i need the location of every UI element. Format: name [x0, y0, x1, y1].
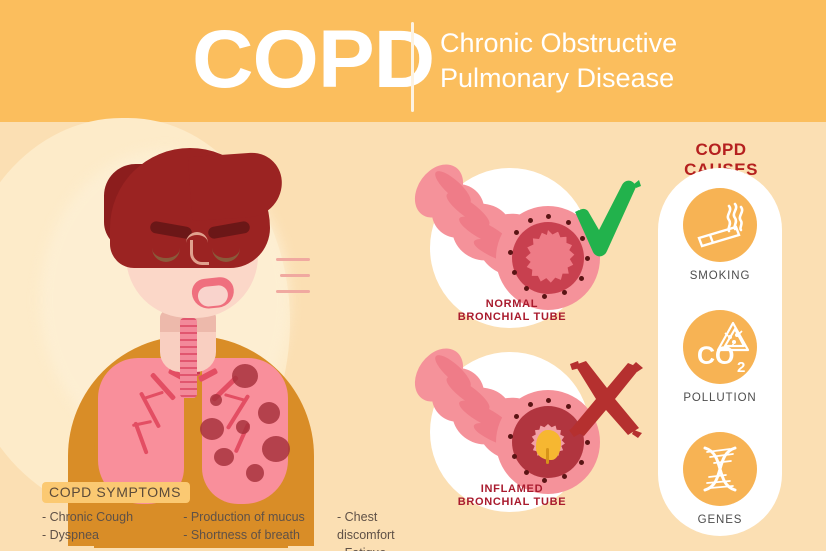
- cough-motion-line: [276, 258, 310, 261]
- page-title: COPD: [192, 12, 400, 107]
- cause-item-smoking[interactable]: SMOKING: [658, 188, 782, 282]
- cause-label: SMOKING: [658, 270, 782, 282]
- lung-damage-spot: [232, 364, 258, 388]
- symptoms-list: - Chronic Cough - Dyspnea - Production o…: [42, 508, 462, 551]
- symptom-item: - Shortness of breath: [183, 526, 311, 544]
- symptoms-column: - Chronic Cough - Dyspnea: [42, 508, 157, 551]
- tube-label: NORMAL BRONCHIAL TUBE: [412, 298, 612, 324]
- cigarette-icon: [683, 188, 757, 262]
- cause-label: POLLUTION: [658, 392, 782, 404]
- hair-fringe: [188, 151, 284, 221]
- symptoms-title: COPD SYMPTOMS: [42, 482, 190, 503]
- trachea: [180, 318, 197, 398]
- lung-damage-spot: [210, 394, 222, 406]
- header-subtitle-line2: Pulmonary Disease: [440, 61, 770, 96]
- causes-panel: SMOKING CO 2 POLLUTION: [658, 168, 782, 536]
- symptom-item: - Chronic Cough: [42, 508, 157, 526]
- lung-damage-spot: [262, 436, 290, 462]
- header-subtitle-line1: Chronic Obstructive: [440, 26, 770, 61]
- tube-label: INFLAMED BRONCHIAL TUBE: [412, 483, 612, 509]
- symptom-item: - Fatigue: [337, 544, 436, 551]
- dna-helix-icon: [683, 432, 757, 506]
- x-mark-icon: [566, 360, 644, 443]
- co2-text: CO: [697, 342, 735, 370]
- lung-damage-spot: [214, 448, 234, 466]
- tube-label-line1: INFLAMED: [412, 483, 612, 496]
- lung-damage-spot: [246, 464, 264, 482]
- header-banner: COPD Chronic Obstructive Pulmonary Disea…: [0, 0, 826, 122]
- nose: [190, 240, 209, 265]
- co2-subscript: 2: [737, 359, 745, 376]
- lung-damage-spot: [236, 420, 250, 434]
- tube-label-line2: BRONCHIAL TUBE: [412, 311, 612, 324]
- co2-hazard-icon: CO 2: [683, 310, 757, 384]
- lung-damage-spot: [258, 402, 280, 424]
- tube-label-line2: BRONCHIAL TUBE: [412, 496, 612, 509]
- symptoms-section: COPD SYMPTOMS - Chronic Cough - Dyspnea …: [42, 482, 462, 551]
- cause-item-pollution[interactable]: CO 2 POLLUTION: [658, 310, 782, 404]
- lung-damage-spot: [200, 418, 224, 440]
- cause-item-genes[interactable]: GENES: [658, 432, 782, 526]
- cough-motion-line: [276, 290, 310, 293]
- infographic-page: COPD Chronic Obstructive Pulmonary Disea…: [0, 0, 826, 551]
- cough-motion-line: [280, 274, 310, 277]
- symptom-item: - Production of mucus: [183, 508, 311, 526]
- coughing-man-illustration: [40, 140, 340, 500]
- tube-label-line1: NORMAL: [412, 298, 612, 311]
- header-subtitle: Chronic Obstructive Pulmonary Disease: [440, 26, 770, 96]
- check-mark-icon: [570, 178, 642, 265]
- symptom-item: - Dyspnea: [42, 526, 157, 544]
- symptoms-column: - Production of mucus - Shortness of bre…: [183, 508, 311, 551]
- header-divider: [411, 22, 414, 112]
- cause-label: GENES: [658, 514, 782, 526]
